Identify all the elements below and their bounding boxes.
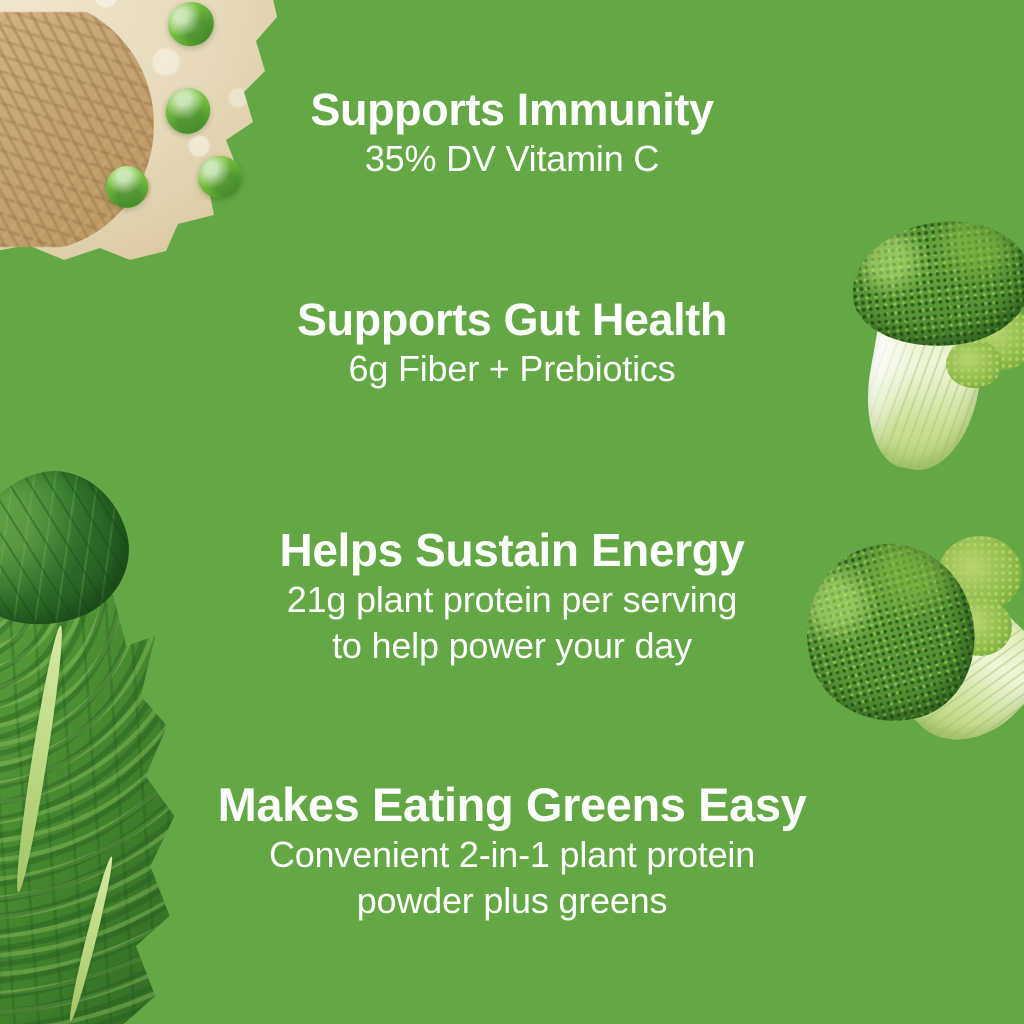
benefits-list: Supports Immunity 35% DV Vitamin C Suppo… [0, 0, 1024, 1024]
benefit-item-sustain-energy: Helps Sustain Energy 21g plant protein p… [0, 526, 1024, 668]
benefit-subtext: to help power your day [12, 625, 1012, 667]
benefit-subtext: 6g Fiber + Prebiotics [12, 348, 1012, 390]
benefit-subtext: Convenient 2-in-1 plant protein [12, 834, 1012, 876]
benefit-subtext: 21g plant protein per serving [12, 579, 1012, 621]
benefit-item-immunity: Supports Immunity 35% DV Vitamin C [0, 86, 1024, 180]
benefit-headline: Supports Gut Health [12, 296, 1012, 344]
benefit-headline: Supports Immunity [12, 86, 1012, 134]
benefit-subtext: powder plus greens [12, 880, 1012, 922]
benefit-item-gut-health: Supports Gut Health 6g Fiber + Prebiotic… [0, 296, 1024, 390]
benefit-headline: Helps Sustain Energy [12, 526, 1012, 575]
benefit-headline: Makes Eating Greens Easy [12, 780, 1012, 830]
benefit-item-eating-greens: Makes Eating Greens Easy Convenient 2-in… [0, 780, 1024, 923]
product-benefits-poster: Supports Immunity 35% DV Vitamin C Suppo… [0, 0, 1024, 1024]
benefit-subtext: 35% DV Vitamin C [12, 138, 1012, 180]
